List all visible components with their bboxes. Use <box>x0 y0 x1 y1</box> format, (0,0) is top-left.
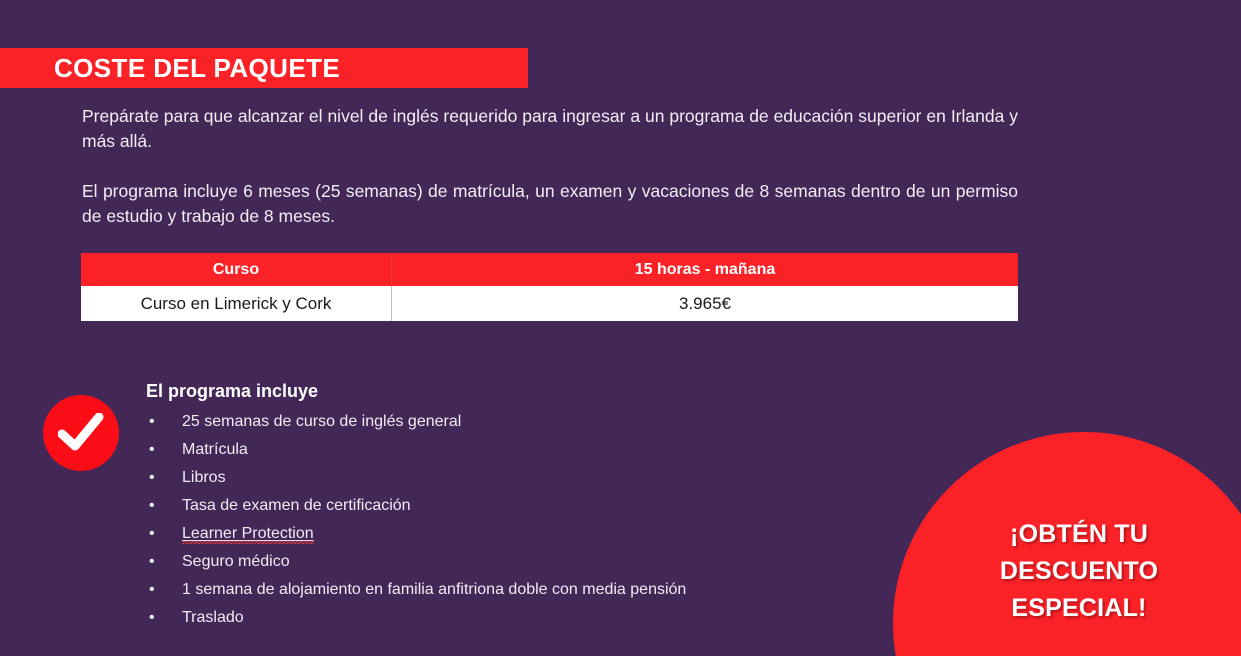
table-header-course: Curso <box>81 253 392 286</box>
includes-list: 25 semanas de curso de inglés general Ma… <box>146 408 946 632</box>
list-item: 1 semana de alojamiento en familia anfit… <box>146 576 946 604</box>
price-table: Curso 15 horas - mañana Curso en Limeric… <box>81 253 1018 321</box>
includes-heading: El programa incluye <box>146 380 946 402</box>
body-copy: Prepárate para que alcanzar el nivel de … <box>82 104 1018 229</box>
table-cell-price: 3.965€ <box>392 286 1019 321</box>
list-item: Matrícula <box>146 436 946 464</box>
intro-paragraph: Prepárate para que alcanzar el nivel de … <box>82 104 1018 154</box>
list-item: Learner Protection <box>146 520 946 548</box>
list-item-label: Learner Protection <box>182 525 314 545</box>
list-item-label: Tasa de examen de certificación <box>182 497 411 514</box>
table-header-row: Curso 15 horas - mañana <box>81 253 1018 286</box>
list-item: 25 semanas de curso de inglés general <box>146 408 946 436</box>
list-item-label: Libros <box>182 469 226 486</box>
list-item: Tasa de examen de certificación <box>146 492 946 520</box>
list-item-label: Seguro médico <box>182 553 290 570</box>
list-item: Traslado <box>146 604 946 632</box>
title-banner: COSTE DEL PAQUETE <box>0 48 528 88</box>
check-mark-icon <box>43 395 119 471</box>
page-title: COSTE DEL PAQUETE <box>54 55 340 81</box>
discount-line-1: ¡OBTÉN TU <box>893 516 1241 553</box>
list-item: Seguro médico <box>146 548 946 576</box>
list-item-label: 25 semanas de curso de inglés general <box>182 413 461 430</box>
discount-line-2: DESCUENTO <box>893 553 1241 590</box>
slide-canvas: COSTE DEL PAQUETE Prepárate para que alc… <box>0 0 1241 656</box>
program-details-paragraph: El programa incluye 6 meses (25 semanas)… <box>82 179 1018 229</box>
price-table-body: Curso en Limerick y Cork 3.965€ <box>81 286 1018 321</box>
price-table-head: Curso 15 horas - mañana <box>81 253 1018 286</box>
table-header-schedule: 15 horas - mañana <box>392 253 1019 286</box>
list-item-label: Traslado <box>182 609 244 626</box>
list-item-label: 1 semana de alojamiento en familia anfit… <box>182 581 686 598</box>
list-item-label: Matrícula <box>182 441 248 458</box>
includes-section: El programa incluye 25 semanas de curso … <box>146 380 946 632</box>
table-row: Curso en Limerick y Cork 3.965€ <box>81 286 1018 321</box>
table-cell-course: Curso en Limerick y Cork <box>81 286 392 321</box>
discount-callout-text: ¡OBTÉN TU DESCUENTO ESPECIAL! <box>893 516 1241 627</box>
list-item: Libros <box>146 464 946 492</box>
discount-line-3: ESPECIAL! <box>893 590 1241 627</box>
